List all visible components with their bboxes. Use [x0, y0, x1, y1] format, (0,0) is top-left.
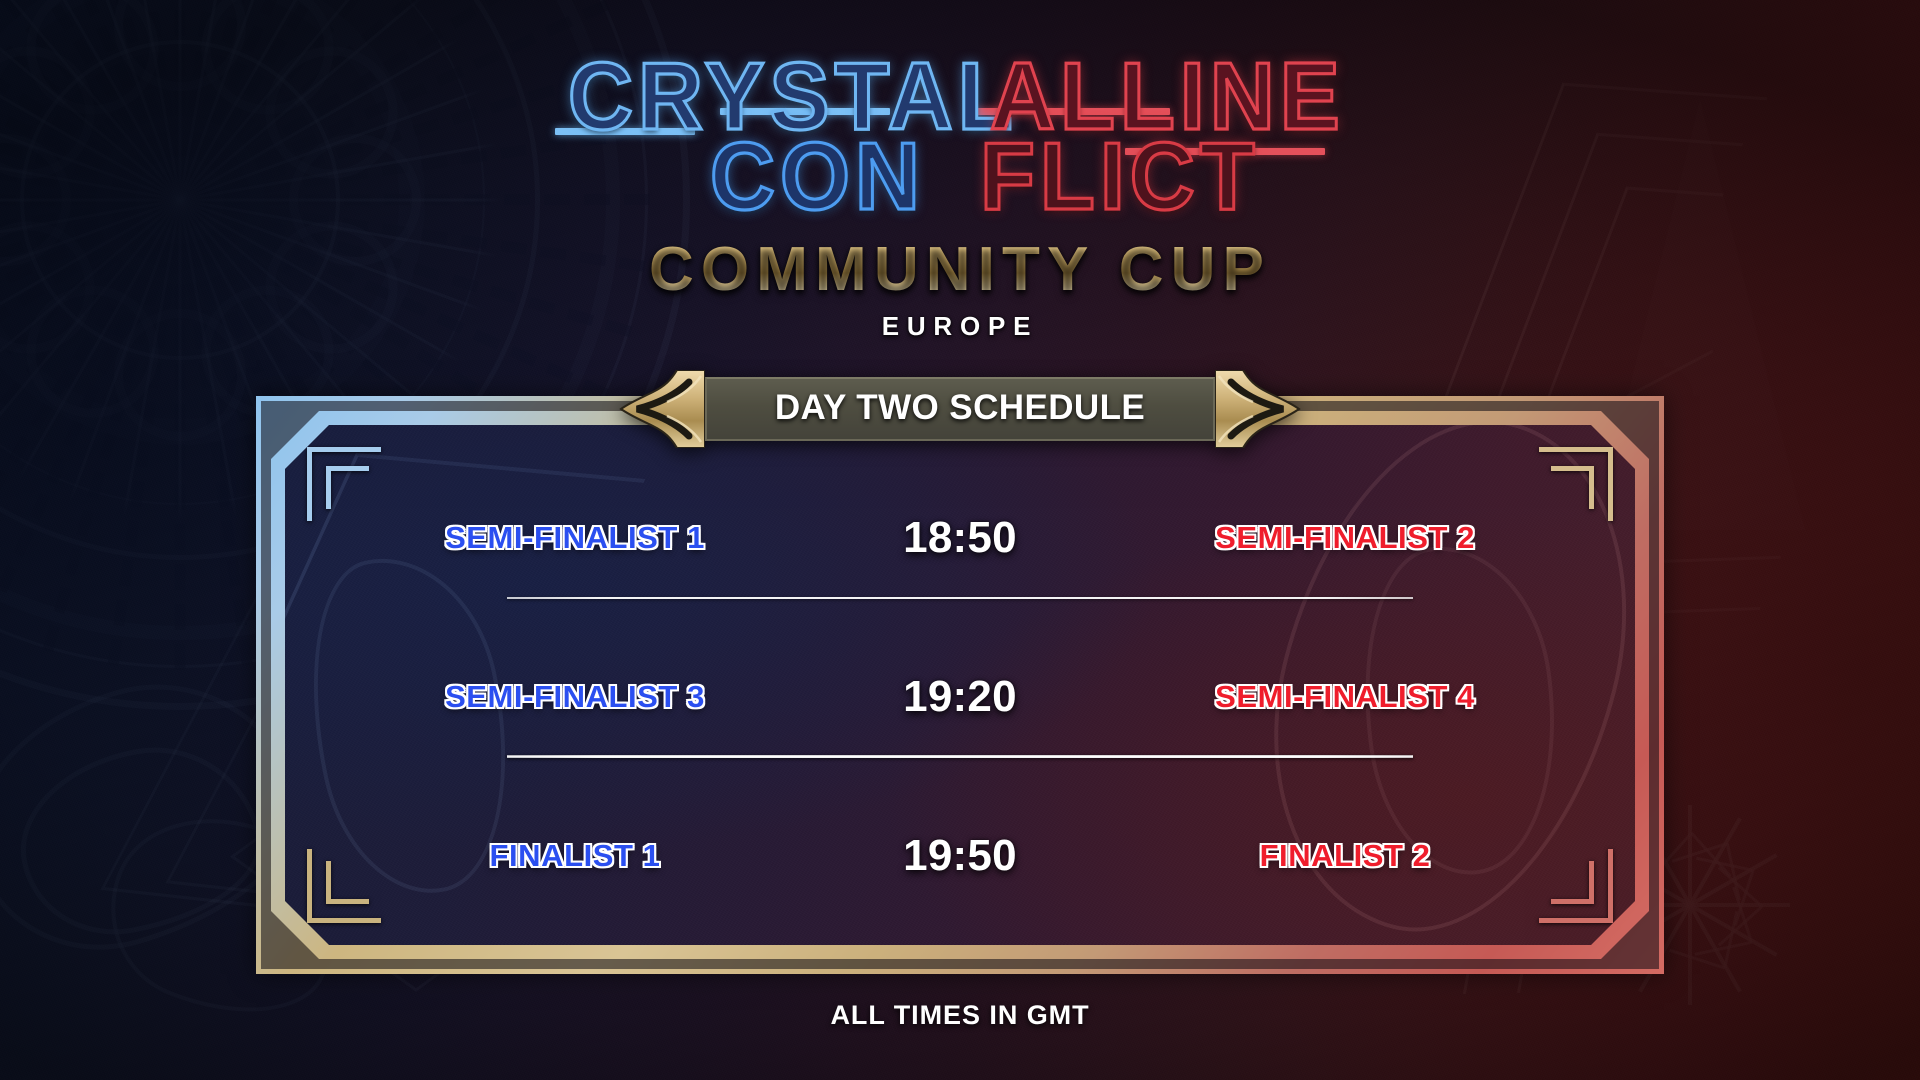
banner-plate: DAY TWO SCHEDULE	[705, 377, 1215, 441]
panel-outer-frame: SEMI-FINALIST 1 18:50 SEMI-FINALIST 2 SE…	[256, 396, 1664, 974]
schedule-panel: SEMI-FINALIST 1 18:50 SEMI-FINALIST 2 SE…	[256, 396, 1664, 974]
schedule-row: SEMI-FINALIST 3 19:20 SEMI-FINALIST 4	[339, 638, 1581, 756]
match-left-team: SEMI-FINALIST 1	[339, 520, 811, 556]
schedule-row: SEMI-FINALIST 1 18:50 SEMI-FINALIST 2	[339, 479, 1581, 597]
match-right-team: SEMI-FINALIST 4	[1109, 679, 1581, 715]
schedule-list: SEMI-FINALIST 1 18:50 SEMI-FINALIST 2 SE…	[285, 425, 1635, 945]
panel-inner-frame: SEMI-FINALIST 1 18:50 SEMI-FINALIST 2 SE…	[271, 411, 1649, 959]
logo-wordmark: CRYSTAL ALLINE CON FLICT	[550, 40, 1370, 230]
schedule-spacer	[339, 757, 1581, 797]
tournament-logo: CRYSTAL ALLINE CON FLICT COMMUNITY CUP E…	[0, 40, 1920, 342]
ornate-arrow-left-icon	[619, 370, 705, 448]
logo-region-label: EUROPE	[0, 311, 1920, 342]
logo-text-con: CON	[710, 123, 925, 232]
match-right-team: SEMI-FINALIST 2	[1109, 520, 1581, 556]
panel-face: SEMI-FINALIST 1 18:50 SEMI-FINALIST 2 SE…	[285, 425, 1635, 945]
match-left-team: SEMI-FINALIST 3	[339, 679, 811, 715]
match-time: 19:50	[811, 831, 1109, 881]
schedule-spacer	[339, 598, 1581, 638]
match-left-team: FINALIST 1	[339, 838, 811, 874]
match-time: 19:20	[811, 672, 1109, 722]
panel-frame-gap: SEMI-FINALIST 1 18:50 SEMI-FINALIST 2 SE…	[261, 401, 1659, 969]
schedule-row: FINALIST 1 19:50 FINALIST 2	[339, 797, 1581, 915]
match-right-team: FINALIST 2	[1109, 838, 1581, 874]
ornate-arrow-right-icon	[1215, 370, 1301, 448]
logo-text-flict: FLICT	[980, 123, 1260, 232]
schedule-banner: DAY TWO SCHEDULE	[619, 370, 1301, 448]
match-time: 18:50	[811, 513, 1109, 563]
logo-subtitle: COMMUNITY CUP	[0, 234, 1920, 305]
footer-note: ALL TIMES IN GMT	[0, 1000, 1920, 1031]
banner-title: DAY TWO SCHEDULE	[771, 388, 1149, 428]
